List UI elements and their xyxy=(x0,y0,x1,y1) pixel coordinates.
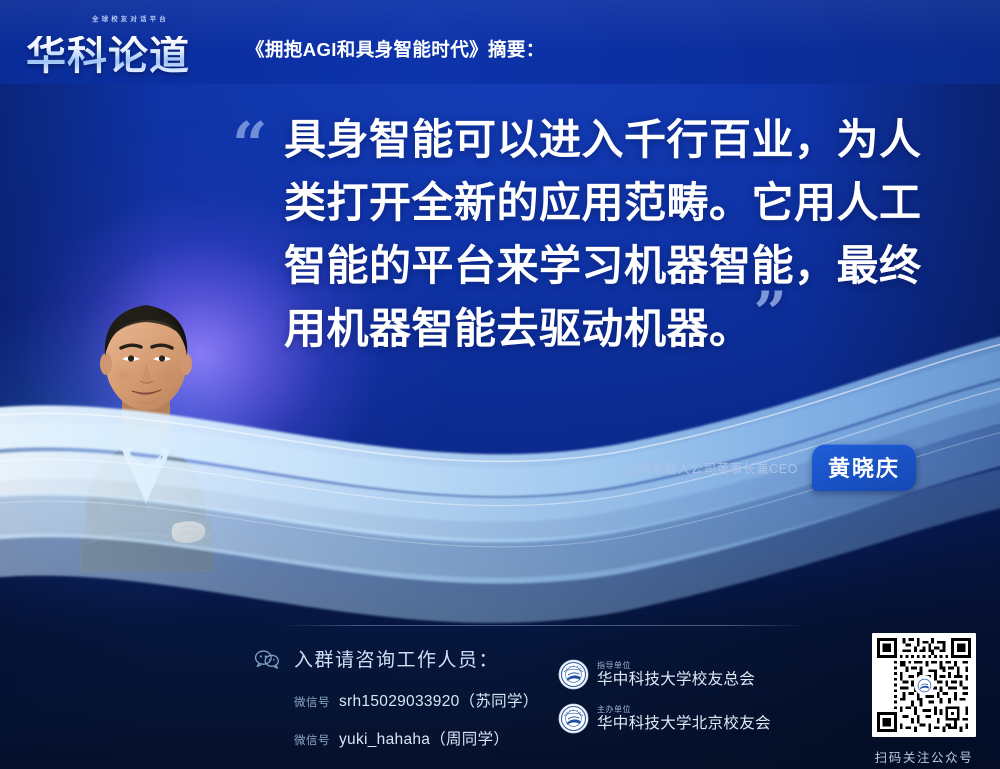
wechat-id[interactable]: srh15029033920（苏同学） xyxy=(339,689,539,711)
speaker-portrait xyxy=(28,272,264,572)
contact-heading: 入群请咨询工作人员： xyxy=(294,645,499,672)
organizations: 指导单位 华中科技大学校友总会 xyxy=(558,659,771,734)
logo-wordmark: 华科论道 xyxy=(26,36,222,77)
qr-center-logo xyxy=(914,675,934,695)
wechat-label: 微信号 xyxy=(294,694,330,710)
logo-tagline: 全球校友对话平台 xyxy=(92,13,169,23)
contact-row-2: 微信号 yuki_hahaha（周同学） xyxy=(294,727,539,749)
quote-text: 具身智能可以进入千行百业，为人 类打开全新的应用范畴。它用人工 智能的平台来学习… xyxy=(284,108,962,360)
page-title: 《拥抱AGI和具身智能时代》摘要： xyxy=(246,36,545,62)
qr-section[interactable]: 扫码关注公众号 xyxy=(872,633,976,766)
wechat-id[interactable]: yuki_hahaha（周同学） xyxy=(339,727,509,749)
wechat-label: 微信号 xyxy=(294,732,330,748)
quote-line-text: 用机器智能去驱动机器。 xyxy=(284,304,752,353)
organization-kicker: 主办单位 xyxy=(597,705,771,715)
quote-line: 智能的平台来学习机器智能，最终 xyxy=(284,234,962,297)
contact-section: 入群请咨询工作人员： 微信号 srh15029033920（苏同学） 微信号 y… xyxy=(254,645,539,749)
quote-line: 具身智能可以进入千行百业，为人 xyxy=(284,108,962,171)
quote-line: 类打开全新的应用范畴。它用人工 xyxy=(284,171,962,234)
university-seal-icon xyxy=(558,703,589,734)
qr-code-image[interactable] xyxy=(872,633,976,737)
quote-block: “ 具身智能可以进入千行百业，为人 类打开全新的应用范畴。它用人工 智能的平台来… xyxy=(232,108,962,360)
organization-name: 华中科技大学北京校友会 xyxy=(597,715,771,733)
organization-row: 指导单位 华中科技大学校友总会 xyxy=(558,659,771,690)
contact-row-1: 微信号 srh15029033920（苏同学） xyxy=(294,689,539,711)
qr-caption: 扫码关注公众号 xyxy=(875,747,974,766)
university-seal-icon xyxy=(558,659,589,690)
contact-heading-row: 入群请咨询工作人员： xyxy=(254,645,539,672)
organization-kicker: 指导单位 xyxy=(597,661,755,671)
organization-name: 华中科技大学校友总会 xyxy=(597,671,755,689)
speaker-role: 达闼机器人公司董事长兼CEO xyxy=(625,458,798,477)
organization-row: 主办单位 华中科技大学北京校友会 xyxy=(558,703,771,734)
footer-divider xyxy=(286,625,800,626)
header-bar: 全球校友对话平台 华科论道 《拥抱AGI和具身智能时代》摘要： xyxy=(0,0,1000,84)
speaker-name-badge: 黄晓庆 xyxy=(812,444,916,491)
attribution: 达闼机器人公司董事长兼CEO 黄晓庆 xyxy=(625,444,916,491)
open-quote-mark: “ xyxy=(232,114,268,176)
quote-line-last: 用机器智能去驱动机器。” xyxy=(284,297,962,360)
close-quote-mark: ” xyxy=(754,308,788,320)
wechat-icon xyxy=(254,649,280,669)
footer: 入群请咨询工作人员： 微信号 srh15029033920（苏同学） 微信号 y… xyxy=(0,619,1000,769)
poster-root: 全球校友对话平台 华科论道 《拥抱AGI和具身智能时代》摘要： xyxy=(0,0,1000,769)
organization-text: 主办单位 华中科技大学北京校友会 xyxy=(597,705,771,733)
organization-text: 指导单位 华中科技大学校友总会 xyxy=(597,661,755,689)
brand-logo[interactable]: 全球校友对话平台 华科论道 xyxy=(26,9,222,75)
